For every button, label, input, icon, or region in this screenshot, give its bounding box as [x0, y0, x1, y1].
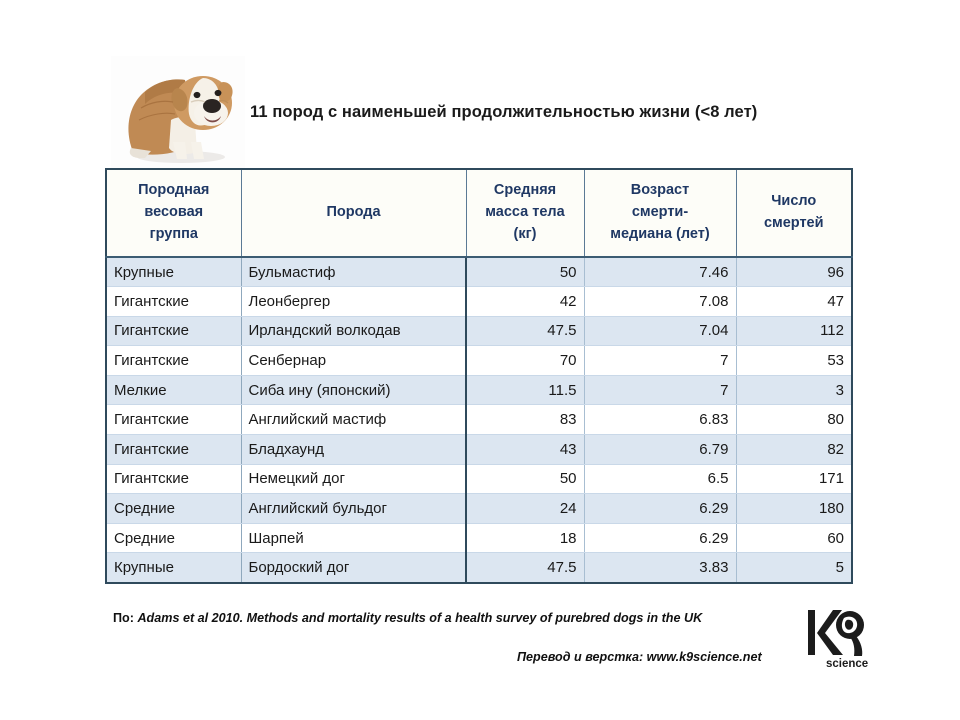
- cell-breed: Бладхаунд: [241, 435, 466, 465]
- table-row: СредниеШарпей186.2960: [106, 523, 852, 553]
- cell-mean-body-mass: 42: [466, 287, 584, 317]
- table-row: КрупныеБордоский дог47.53.835: [106, 553, 852, 583]
- cell-median-age-at-death: 6.79: [584, 435, 736, 465]
- cell-mean-body-mass: 11.5: [466, 375, 584, 405]
- table-row: ГигантскиеАнглийский мастиф836.8380: [106, 405, 852, 435]
- cell-breed: Английский мастиф: [241, 405, 466, 435]
- cell-weight-group: Средние: [106, 494, 241, 524]
- cell-mean-body-mass: 70: [466, 346, 584, 376]
- cell-number-of-deaths: 80: [736, 405, 852, 435]
- cell-mean-body-mass: 47.5: [466, 553, 584, 583]
- cell-weight-group: Крупные: [106, 257, 241, 287]
- cell-mean-body-mass: 47.5: [466, 316, 584, 346]
- cell-median-age-at-death: 7: [584, 375, 736, 405]
- table-row: ГигантскиеСенбернар70753: [106, 346, 852, 376]
- cell-number-of-deaths: 180: [736, 494, 852, 524]
- cell-breed: Ирландский волкодав: [241, 316, 466, 346]
- logo-wordmark: science: [826, 658, 868, 670]
- header-line: (кг): [473, 224, 578, 246]
- cell-median-age-at-death: 3.83: [584, 553, 736, 583]
- column-header-breed: Порода: [241, 169, 466, 257]
- cell-breed: Шарпей: [241, 523, 466, 553]
- k9science-logo-mark: science: [806, 608, 870, 670]
- table-row: ГигантскиеБладхаунд436.7982: [106, 435, 852, 465]
- cell-breed: Сенбернар: [241, 346, 466, 376]
- table-header: Породная весовая группа Порода Средняя м…: [106, 169, 852, 257]
- cell-weight-group: Средние: [106, 523, 241, 553]
- cell-mean-body-mass: 83: [466, 405, 584, 435]
- cell-number-of-deaths: 171: [736, 464, 852, 494]
- cell-weight-group: Гигантские: [106, 316, 241, 346]
- cell-weight-group: Гигантские: [106, 435, 241, 465]
- cell-number-of-deaths: 47: [736, 287, 852, 317]
- header-line: Число: [743, 191, 846, 213]
- column-header-median-age-at-death: Возраст смерти- медиана (лет): [584, 169, 736, 257]
- header-line: Породная: [113, 180, 235, 202]
- translation-credit: Перевод и верстка: www.k9science.net: [517, 650, 762, 664]
- cell-median-age-at-death: 6.83: [584, 405, 736, 435]
- cell-median-age-at-death: 7.04: [584, 316, 736, 346]
- source-citation: По: Adams et al 2010. Methods and mortal…: [113, 611, 702, 625]
- cell-breed: Сиба ину (японский): [241, 375, 466, 405]
- cell-weight-group: Гигантские: [106, 346, 241, 376]
- k9science-logo: science: [806, 608, 870, 670]
- header-line: масса тела: [473, 202, 578, 224]
- cell-mean-body-mass: 18: [466, 523, 584, 553]
- table-row: ГигантскиеЛеонбергер427.0847: [106, 287, 852, 317]
- cell-mean-body-mass: 24: [466, 494, 584, 524]
- cell-weight-group: Гигантские: [106, 287, 241, 317]
- english-bulldog-photo: [111, 56, 245, 169]
- slide-header: 11 пород с наименьшей продолжительностью…: [0, 0, 960, 168]
- header-line: Порода: [248, 202, 460, 224]
- cell-mean-body-mass: 50: [466, 257, 584, 287]
- cell-weight-group: Гигантские: [106, 405, 241, 435]
- table-row: ГигантскиеНемецкий дог506.5171: [106, 464, 852, 494]
- cell-median-age-at-death: 7.46: [584, 257, 736, 287]
- cell-mean-body-mass: 43: [466, 435, 584, 465]
- column-header-number-of-deaths: Число смертей: [736, 169, 852, 257]
- cell-number-of-deaths: 112: [736, 316, 852, 346]
- cell-number-of-deaths: 3: [736, 375, 852, 405]
- header-line: медиана (лет): [591, 224, 730, 246]
- table-header-row: Породная весовая группа Порода Средняя м…: [106, 169, 852, 257]
- header-line: весовая: [113, 202, 235, 224]
- header-line: Возраст: [591, 180, 730, 202]
- cell-weight-group: Гигантские: [106, 464, 241, 494]
- breed-lifespan-table: Породная весовая группа Порода Средняя м…: [105, 168, 853, 584]
- page-title: 11 пород с наименьшей продолжительностью…: [250, 103, 890, 122]
- cell-weight-group: Крупные: [106, 553, 241, 583]
- cell-breed: Бульмастиф: [241, 257, 466, 287]
- header-line: смерти-: [591, 202, 730, 224]
- column-header-mean-body-mass: Средняя масса тела (кг): [466, 169, 584, 257]
- source-prefix: По:: [113, 611, 134, 625]
- table-row: КрупныеБульмастиф507.4696: [106, 257, 852, 287]
- table-row: СредниеАнглийский бульдог246.29180: [106, 494, 852, 524]
- cell-mean-body-mass: 50: [466, 464, 584, 494]
- cell-number-of-deaths: 53: [736, 346, 852, 376]
- table-row: ГигантскиеИрландский волкодав47.57.04112: [106, 316, 852, 346]
- header-line: группа: [113, 224, 235, 246]
- cell-number-of-deaths: 82: [736, 435, 852, 465]
- cell-weight-group: Мелкие: [106, 375, 241, 405]
- cell-breed: Английский бульдог: [241, 494, 466, 524]
- table-body: КрупныеБульмастиф507.4696ГигантскиеЛеонб…: [106, 257, 852, 583]
- cell-median-age-at-death: 7.08: [584, 287, 736, 317]
- cell-breed: Леонбергер: [241, 287, 466, 317]
- bulldog-illustration: [111, 56, 245, 169]
- cell-breed: Бордоский дог: [241, 553, 466, 583]
- cell-number-of-deaths: 96: [736, 257, 852, 287]
- header-line: Средняя: [473, 180, 578, 202]
- cell-median-age-at-death: 7: [584, 346, 736, 376]
- cell-breed: Немецкий дог: [241, 464, 466, 494]
- header-line: смертей: [743, 213, 846, 235]
- cell-number-of-deaths: 60: [736, 523, 852, 553]
- cell-median-age-at-death: 6.5: [584, 464, 736, 494]
- cell-median-age-at-death: 6.29: [584, 494, 736, 524]
- cell-median-age-at-death: 6.29: [584, 523, 736, 553]
- table-row: МелкиеСиба ину (японский)11.573: [106, 375, 852, 405]
- column-header-weight-group: Породная весовая группа: [106, 169, 241, 257]
- cell-number-of-deaths: 5: [736, 553, 852, 583]
- source-reference: Adams et al 2010. Methods and mortality …: [134, 611, 702, 625]
